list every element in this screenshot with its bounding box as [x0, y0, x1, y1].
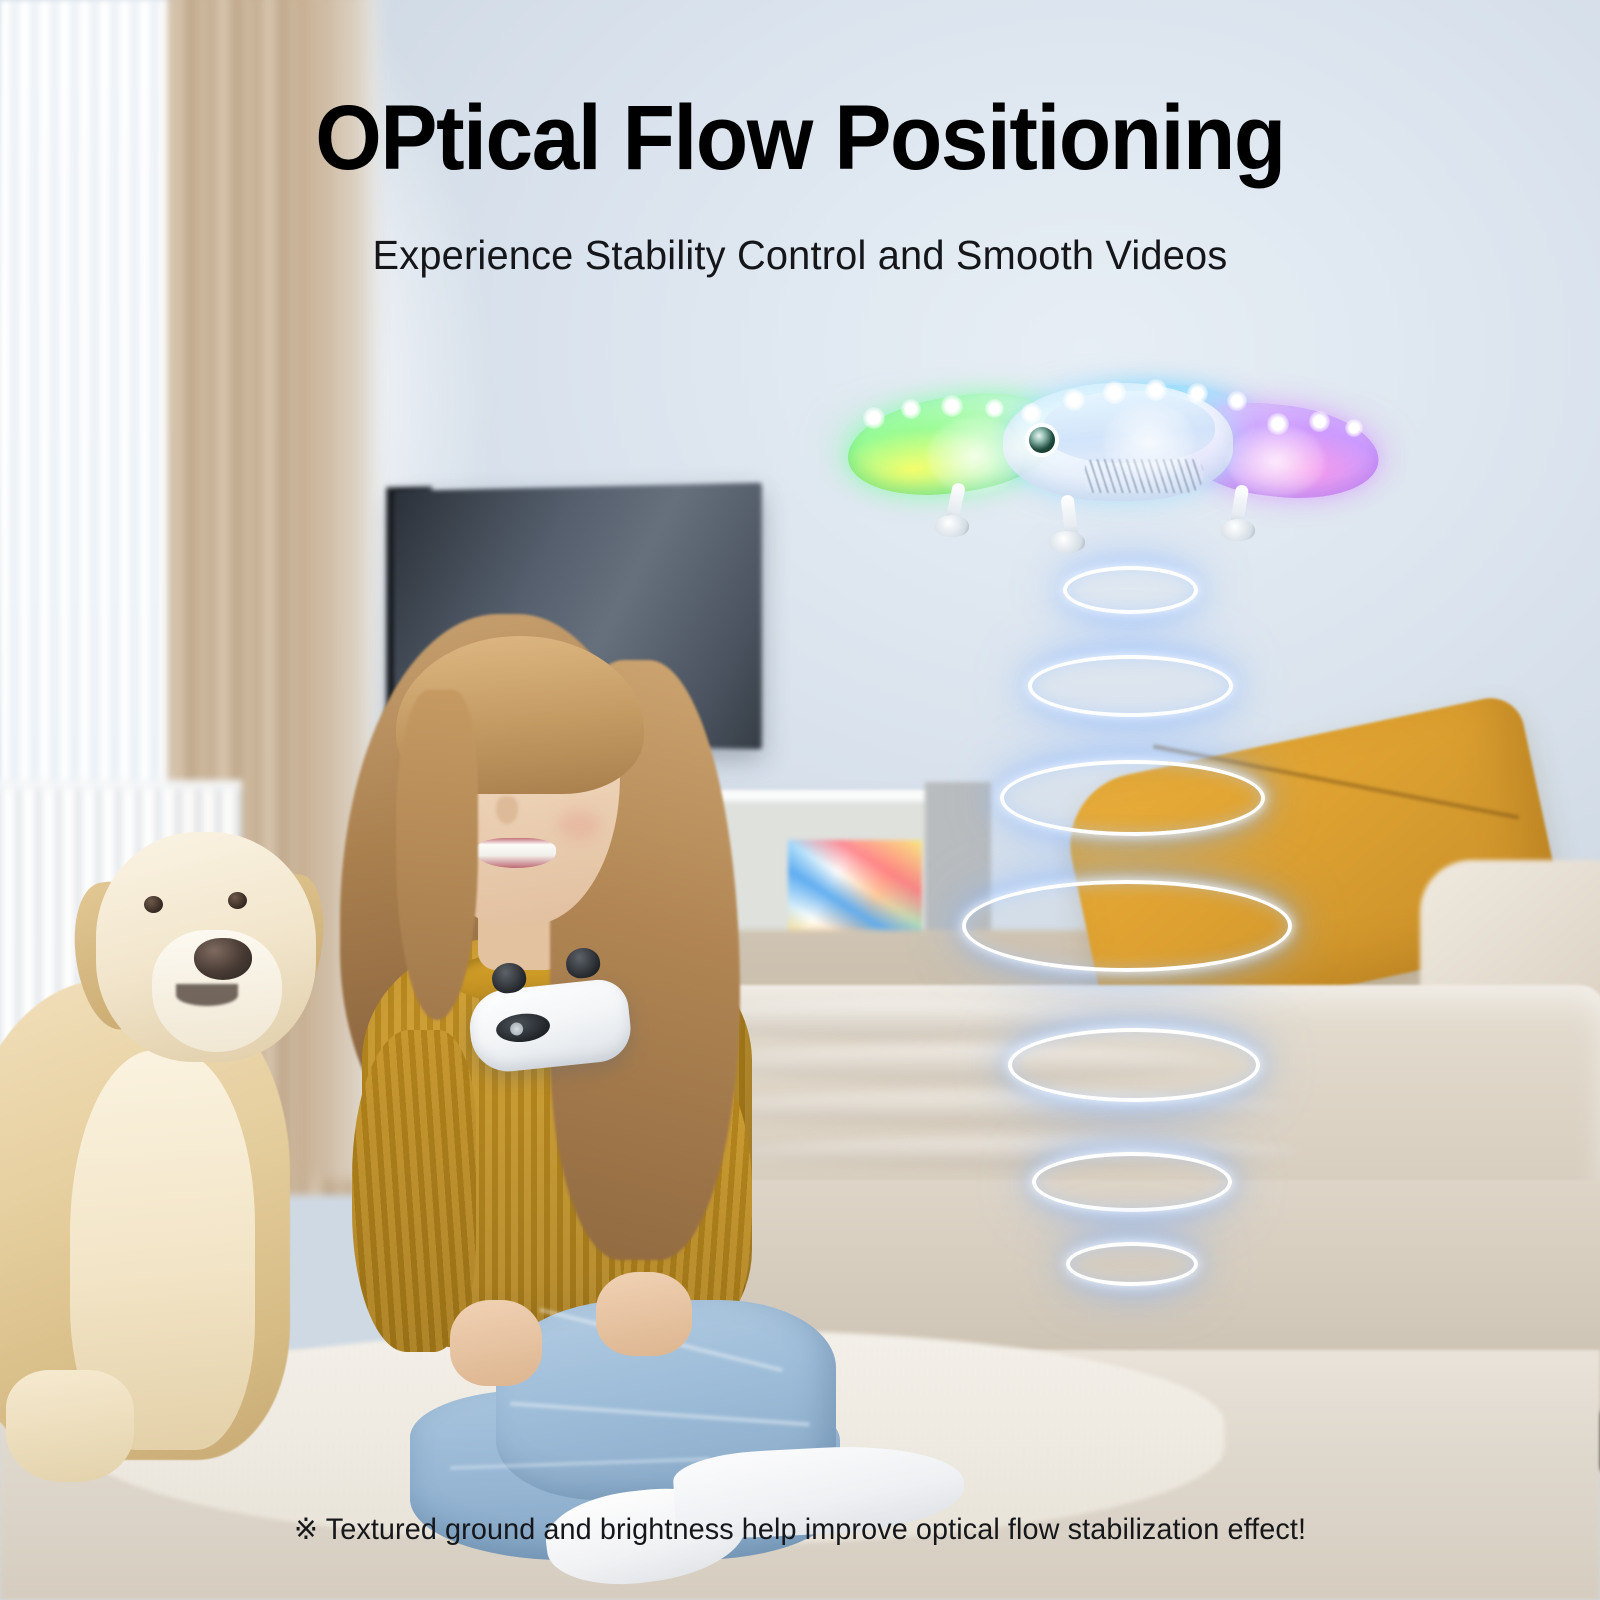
sensor-ring-6: [1032, 1152, 1232, 1212]
sensor-ring-1: [1063, 566, 1198, 614]
drone-landing-foot-3: [1221, 519, 1255, 541]
page-title: OPtical Flow Positioning: [56, 92, 1544, 184]
sensor-ring-5: [1008, 1028, 1260, 1102]
product-feature-banner: OPtical Flow Positioning Experience Stab…: [0, 0, 1600, 1600]
rgb-led-quadcopter-drone: [835, 355, 1385, 545]
sensor-ring-3: [1000, 760, 1265, 836]
sensor-ring-4: [962, 880, 1292, 972]
sensor-ring-2: [1028, 655, 1233, 717]
page-subtitle: Experience Stability Control and Smooth …: [24, 232, 1576, 279]
drone-landing-foot-2: [1049, 531, 1085, 553]
sensor-ring-7: [1066, 1242, 1198, 1286]
drone-landing-foot-1: [935, 515, 969, 537]
drone-landing-gear: [835, 355, 1385, 545]
footnote-text: ※ Textured ground and brightness help im…: [32, 1512, 1568, 1547]
